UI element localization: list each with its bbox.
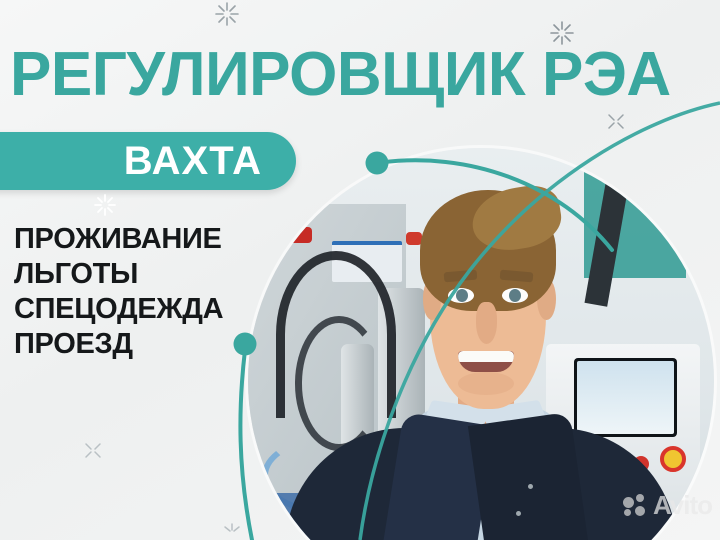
- status-badge-label: ВАХТА: [124, 141, 262, 181]
- page-title: РЕГУЛИРОВЩИК РЭА: [10, 44, 710, 106]
- list-item: СПЕЦОДЕЖДА: [14, 292, 274, 327]
- photo-content: [248, 148, 714, 540]
- nose: [476, 302, 497, 344]
- iris-right: [509, 289, 521, 302]
- list-item: ПРОЖИВАНИЕ: [14, 222, 274, 257]
- list-item: ЛЬГОТЫ: [14, 257, 274, 292]
- avito-logo-icon: [623, 494, 647, 516]
- iris-left: [456, 289, 468, 302]
- avito-watermark: Avito: [623, 492, 712, 518]
- worker-figure: [248, 148, 714, 540]
- sparkle-icon: [95, 195, 115, 215]
- list-item: ПРОЕЗД: [14, 327, 274, 362]
- sparkle-icon: [609, 115, 623, 128]
- avito-wordmark: Avito: [653, 492, 712, 518]
- benefits-list: ПРОЖИВАНИЕ ЛЬГОТЫ СПЕЦОДЕЖДА ПРОЕЗД: [14, 222, 274, 362]
- snap-button-a: [528, 484, 533, 489]
- mouth: [458, 351, 514, 372]
- poster-canvas: РЕГУЛИРОВЩИК РЭА ВАХТА: [0, 0, 720, 540]
- teeth: [458, 351, 514, 362]
- sparkle-icon: [225, 524, 239, 531]
- sparkle-icon: [216, 3, 238, 25]
- sparkle-icon: [86, 444, 100, 457]
- chin: [458, 372, 514, 395]
- worker-photo: [248, 148, 714, 540]
